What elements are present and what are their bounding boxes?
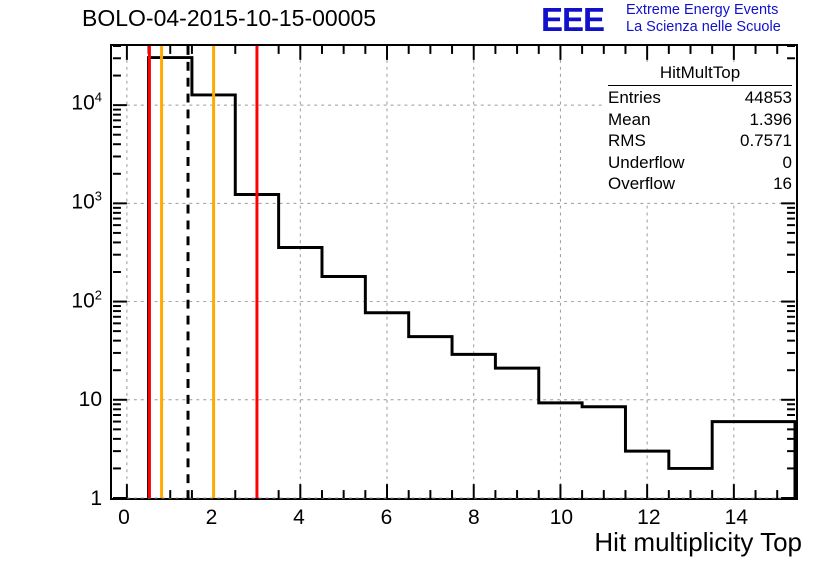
- stats-row-label: Underflow: [608, 152, 685, 174]
- y-tick-label: 1: [90, 487, 102, 511]
- stats-row-value: 0.7571: [740, 130, 792, 152]
- x-tick-label: 4: [293, 506, 305, 530]
- eee-logo: EEE Extreme Energy Events La Scienza nel…: [541, 2, 833, 40]
- stats-row-label: Mean: [608, 109, 651, 131]
- stats-row: Underflow0: [604, 152, 796, 174]
- x-tick-label: 2: [206, 506, 218, 530]
- stats-row: Mean1.396: [604, 109, 796, 131]
- stats-row-value: 16: [773, 173, 792, 195]
- stats-box: HitMultTop Entries44853Mean1.396RMS0.757…: [604, 62, 796, 202]
- stats-row: Entries44853: [604, 87, 796, 109]
- page-title: BOLO-04-2015-10-15-00005: [82, 5, 376, 32]
- stats-row-label: Overflow: [608, 173, 675, 195]
- x-tick-label: 8: [468, 506, 480, 530]
- x-tick-label: 10: [550, 506, 573, 530]
- stats-row: RMS0.7571: [604, 130, 796, 152]
- y-tick-label: 104: [71, 89, 102, 115]
- y-tick-label: 102: [71, 288, 102, 314]
- stats-title: HitMultTop: [604, 62, 796, 83]
- x-tick-label: 6: [381, 506, 393, 530]
- logo-line-2: La Scienza nelle Scuole: [626, 19, 781, 36]
- stats-divider: [608, 85, 792, 86]
- logo-line-1: Extreme Energy Events: [626, 2, 778, 19]
- stats-row-label: Entries: [608, 87, 661, 109]
- y-tick-label: 10: [79, 388, 102, 412]
- stats-row-value: 1.396: [749, 109, 792, 131]
- stats-rows: Entries44853Mean1.396RMS0.7571Underflow0…: [604, 87, 796, 195]
- stats-row-value: 44853: [745, 87, 792, 109]
- stats-row-value: 0: [783, 152, 792, 174]
- x-tick-label: 0: [118, 506, 130, 530]
- stats-row: Overflow16: [604, 173, 796, 195]
- eee-wordmark-icon: EEE: [541, 3, 604, 36]
- y-tick-label: 103: [71, 188, 102, 214]
- x-axis-title: Hit multiplicity Top: [594, 527, 802, 558]
- stats-row-label: RMS: [608, 130, 646, 152]
